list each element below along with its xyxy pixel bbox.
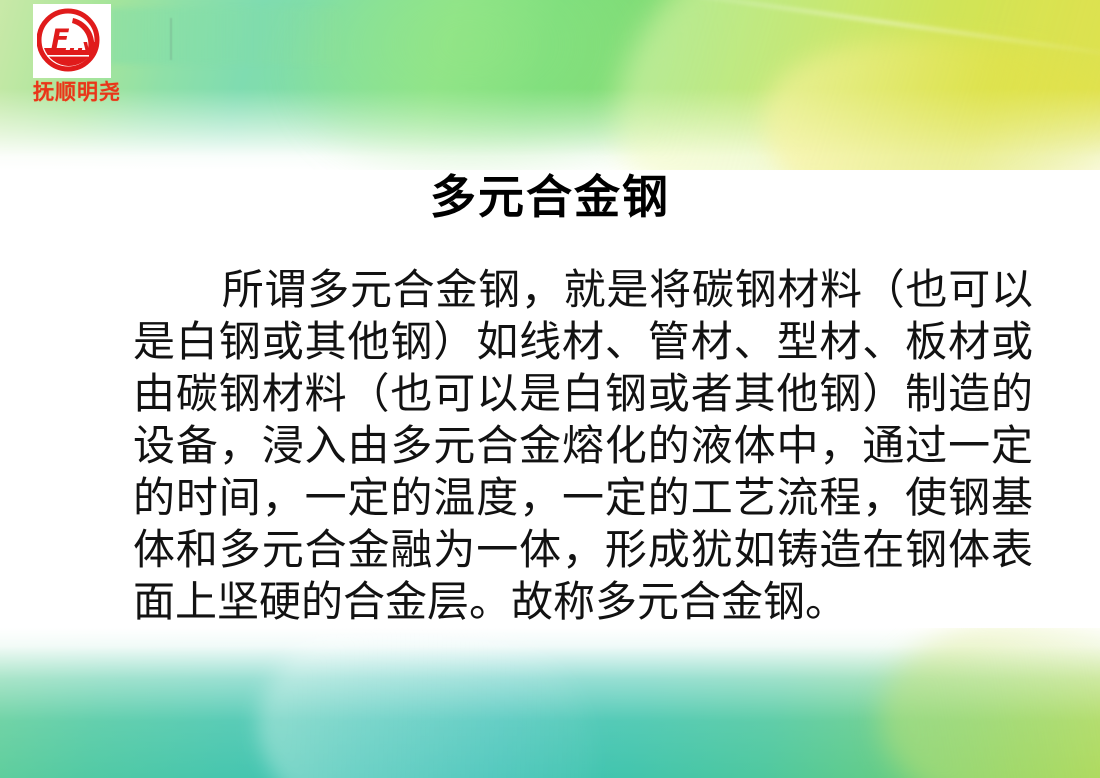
brand-logo: F m y 抚顺明尧: [33, 4, 111, 103]
logo-caption: 抚顺明尧: [33, 82, 111, 103]
footer-decoration-band: [0, 628, 1100, 778]
header-teal-block: [110, 8, 340, 64]
header-decoration-band: [0, 0, 1100, 170]
logo-tile: F m y: [33, 4, 111, 78]
slide-title: 多元合金钢: [0, 170, 1100, 225]
slide-body-text: 所谓多元合金钢，就是将碳钢材料（也可以是白钢或其他钢）如线材、管材、型材、板材或…: [133, 264, 1033, 628]
presentation-slide: F m y 抚顺明尧 多元合金钢 所谓多元合金钢，就是将碳钢材料（也可以是白钢或…: [0, 0, 1100, 778]
body-paragraph: 所谓多元合金钢，就是将碳钢材料（也可以是白钢或其他钢）如线材、管材、型材、板材或…: [133, 265, 1033, 626]
fmy-circle-logo-icon: F m y: [37, 8, 105, 72]
header-vertical-line: [170, 18, 172, 60]
